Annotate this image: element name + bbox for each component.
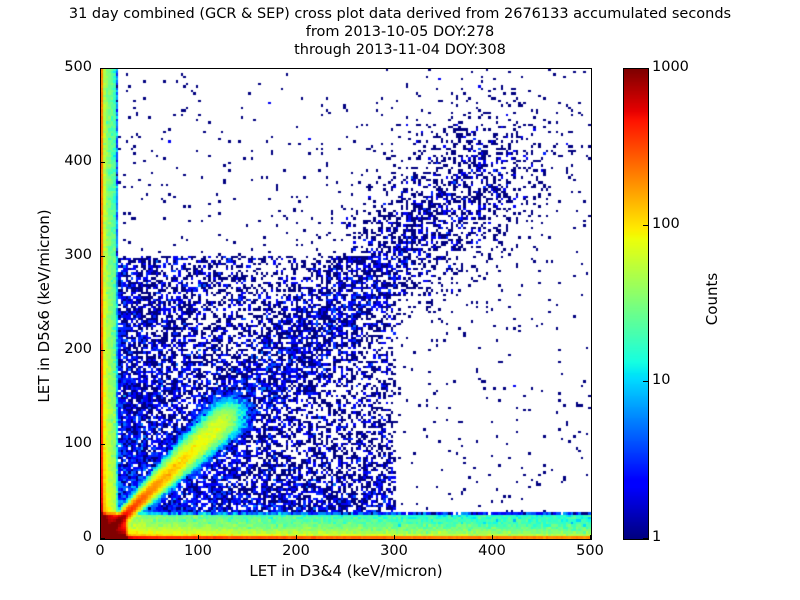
x-tick-label: 300 — [364, 543, 424, 559]
figure-root: 31 day combined (GCR & SEP) cross plot d… — [0, 0, 800, 600]
y-tick-label: 100 — [46, 435, 92, 451]
colorbar — [623, 68, 649, 540]
x-tick-label: 200 — [266, 543, 326, 559]
x-tickmark — [198, 535, 199, 539]
scatter-heatmap-canvas — [101, 69, 591, 539]
x-tick-label: 500 — [560, 543, 620, 559]
y-tick-label: 500 — [46, 59, 92, 75]
y-tickmark — [101, 350, 105, 351]
colorbar-tick-label: 100 — [652, 216, 680, 232]
colorbar-tickmark — [643, 68, 649, 69]
x-tickmark — [492, 535, 493, 539]
x-tickmark — [590, 535, 591, 539]
y-tickmark — [101, 68, 105, 69]
y-tickmark — [101, 444, 105, 445]
colorbar-tickmark — [643, 538, 649, 539]
y-tick-label: 0 — [46, 529, 92, 545]
colorbar-tick-label: 10 — [652, 372, 670, 388]
plot-area — [100, 68, 592, 540]
x-tickmark — [296, 535, 297, 539]
figure-title-line-2: from 2013-10-05 DOY:278 — [0, 25, 800, 40]
colorbar-gradient — [624, 69, 648, 539]
figure-title-line-3: through 2013-11-04 DOY:308 — [0, 43, 800, 58]
colorbar-tickmark — [643, 381, 649, 382]
y-tickmark — [101, 256, 105, 257]
colorbar-tickmark — [643, 225, 649, 226]
y-tickmark — [101, 538, 105, 539]
y-tickmark — [101, 162, 105, 163]
x-axis-label: LET in D3&4 (keV/micron) — [100, 562, 592, 580]
colorbar-tick-label: 1 — [652, 529, 661, 545]
y-axis-label: LET in D5&6 (keV/micron) — [35, 176, 53, 436]
x-tick-label: 0 — [70, 543, 130, 559]
x-tickmark — [394, 535, 395, 539]
y-tick-label: 400 — [46, 153, 92, 169]
colorbar-label: Counts — [703, 234, 721, 364]
x-tick-label: 400 — [462, 543, 522, 559]
x-tick-label: 100 — [168, 543, 228, 559]
figure-title-line-1: 31 day combined (GCR & SEP) cross plot d… — [0, 7, 800, 22]
colorbar-tick-label: 1000 — [652, 59, 689, 75]
